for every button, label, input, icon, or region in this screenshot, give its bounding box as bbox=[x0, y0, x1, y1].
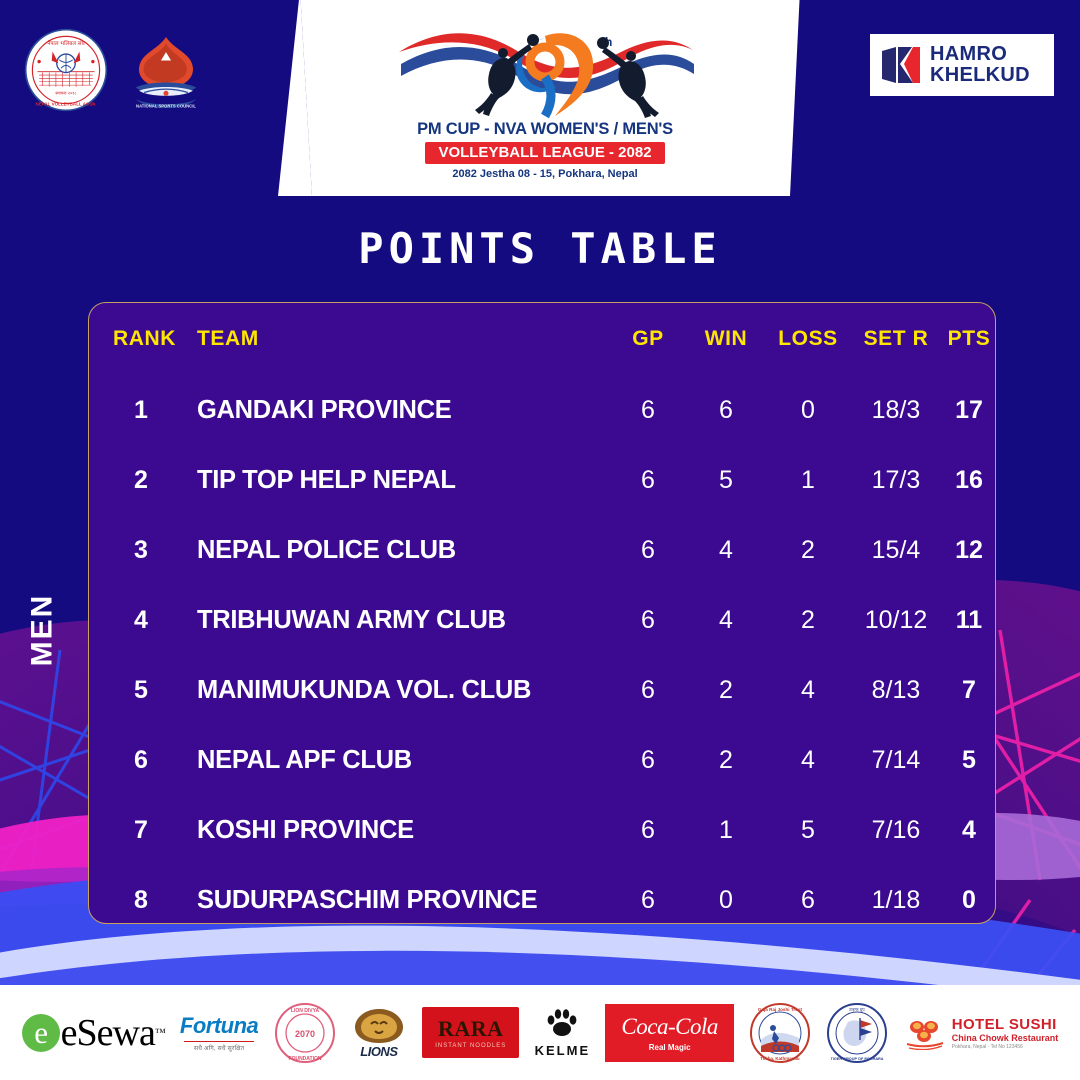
cell-pts: 4 bbox=[941, 795, 996, 865]
svg-text:स्थापना २०१८: स्थापना २०१८ bbox=[55, 90, 76, 95]
tiger-group-seal-icon: टाइगर ग्रुप TIGER GROUP OF POKHARA bbox=[826, 1002, 888, 1064]
cell-gp: 6 bbox=[609, 725, 687, 795]
sponsor-kelme-logo: KELME bbox=[535, 1000, 591, 1066]
cell-team: KOSHI PROVINCE bbox=[193, 795, 609, 865]
svg-text:2070: 2070 bbox=[295, 1029, 315, 1039]
hamro-khelkud-logo: HAMRO KHELKUD bbox=[870, 34, 1054, 96]
cell-rank: 3 bbox=[89, 515, 193, 585]
cell-loss: 2 bbox=[765, 585, 851, 655]
ldjf-seal-icon: 2070 LION DIVYA FOUNDATION bbox=[274, 1002, 336, 1064]
cell-gp: 6 bbox=[609, 585, 687, 655]
cell-win: 4 bbox=[687, 585, 765, 655]
table-row: 5 MANIMUKUNDA VOL. CLUB 6 2 4 8/13 7 bbox=[89, 655, 996, 725]
cell-team: NEPAL POLICE CLUB bbox=[193, 515, 609, 585]
cell-rank: 2 bbox=[89, 445, 193, 515]
cell-set-r: 7/14 bbox=[851, 725, 941, 795]
table-row: 1 GANDAKI PROVINCE 6 6 0 18/3 17 bbox=[89, 375, 996, 445]
cell-rank: 8 bbox=[89, 865, 193, 924]
cell-rank: 4 bbox=[89, 585, 193, 655]
cell-set-r: 10/12 bbox=[851, 585, 941, 655]
cell-set-r: 1/18 bbox=[851, 865, 941, 924]
grjt-seal-icon: Gaja Raj Joshi Trust Tokha, Kathmandu bbox=[749, 1002, 811, 1064]
paw-print-icon bbox=[545, 1008, 579, 1036]
cell-win: 2 bbox=[687, 655, 765, 725]
sponsor-fortuna-text: Fortuna bbox=[180, 1013, 258, 1039]
cell-pts: 0 bbox=[941, 865, 996, 924]
cell-pts: 11 bbox=[941, 585, 996, 655]
column-header-rank: RANK bbox=[89, 303, 193, 375]
table-row: 3 NEPAL POLICE CLUB 6 4 2 15/4 12 bbox=[89, 515, 996, 585]
lion-head-icon bbox=[351, 1007, 407, 1045]
sponsor-hotel-sushi-line1: HOTEL SUSHI bbox=[952, 1016, 1059, 1033]
sponsor-fortuna-tagline: सधै अगि, सधै सुरक्षित bbox=[180, 1044, 258, 1052]
cell-pts: 5 bbox=[941, 725, 996, 795]
points-table: RANK TEAM GP WIN LOSS SET R PTS 1 GANDAK… bbox=[89, 303, 996, 924]
event-logo: th PM CUP - NVA WOMEN'S / MEN'S VOLLEYBA… bbox=[395, 16, 695, 188]
sponsor-lions-logo: LIONS bbox=[351, 1000, 407, 1066]
cell-win: 6 bbox=[687, 375, 765, 445]
cell-win: 4 bbox=[687, 515, 765, 585]
cell-set-r: 15/4 bbox=[851, 515, 941, 585]
cell-loss: 2 bbox=[765, 515, 851, 585]
column-header-loss: LOSS bbox=[765, 303, 851, 375]
sponsor-footer: eeSewa™ Fortuna सधै अगि, सधै सुरक्षित 20… bbox=[0, 985, 1080, 1080]
svg-text:Gaja Raj Joshi Trust: Gaja Raj Joshi Trust bbox=[758, 1007, 803, 1012]
cell-rank: 6 bbox=[89, 725, 193, 795]
points-table-body: 1 GANDAKI PROVINCE 6 6 0 18/3 17 2 TIP T… bbox=[89, 375, 996, 924]
column-header-win: WIN bbox=[687, 303, 765, 375]
cell-gp: 6 bbox=[609, 375, 687, 445]
nepal-volleyball-association-seal: नेपाल भलिबल संघ स्थापना २०१८ NEPAL VOLLE… bbox=[24, 28, 108, 112]
sponsor-esewa-logo: eeSewa™ bbox=[22, 1000, 165, 1066]
sushi-icon bbox=[904, 1016, 946, 1050]
table-row: 6 NEPAL APF CLUB 6 2 4 7/14 5 bbox=[89, 725, 996, 795]
table-row: 2 TIP TOP HELP NEPAL 6 5 1 17/3 16 bbox=[89, 445, 996, 515]
event-logo-art: th bbox=[395, 16, 695, 124]
svg-text:नेपाल भलिबल संघ: नेपाल भलिबल संघ bbox=[47, 40, 85, 47]
cell-loss: 6 bbox=[765, 865, 851, 924]
event-title-line3: 2082 Jestha 08 - 15, Pokhara, Nepal bbox=[395, 168, 695, 180]
column-header-team: TEAM bbox=[193, 303, 609, 375]
table-header-row: RANK TEAM GP WIN LOSS SET R PTS bbox=[89, 303, 996, 375]
cell-loss: 1 bbox=[765, 445, 851, 515]
esewa-trademark-icon: ™ bbox=[155, 1027, 165, 1039]
sponsor-hotel-sushi-logo: HOTEL SUSHI China Chowk Restaurant Pokha… bbox=[904, 1000, 1059, 1066]
cell-loss: 4 bbox=[765, 725, 851, 795]
cell-team: TRIBHUWAN ARMY CLUB bbox=[193, 585, 609, 655]
sponsor-kelme-text: KELME bbox=[535, 1043, 591, 1058]
sponsor-coca-cola-text: Coca-Cola bbox=[621, 1014, 717, 1040]
esewa-e-icon: e bbox=[22, 1014, 60, 1052]
cell-rank: 5 bbox=[89, 655, 193, 725]
svg-text:FOUNDATION: FOUNDATION bbox=[288, 1056, 321, 1062]
cell-team: NEPAL APF CLUB bbox=[193, 725, 609, 795]
cell-team: SUDURPASCHIM PROVINCE bbox=[193, 865, 609, 924]
sponsor-fortuna-logo: Fortuna सधै अगि, सधै सुरक्षित bbox=[180, 1000, 258, 1066]
sponsor-esewa-text: eSewa bbox=[61, 1011, 155, 1055]
event-title-line2: VOLLEYBALL LEAGUE - 2082 bbox=[425, 142, 664, 164]
sponsor-tiger-group-logo: टाइगर ग्रुप TIGER GROUP OF POKHARA bbox=[826, 1000, 888, 1066]
cell-team: MANIMUKUNDA VOL. CLUB bbox=[193, 655, 609, 725]
cell-loss: 4 bbox=[765, 655, 851, 725]
sponsor-rara-logo: RARA INSTANT NOODLES bbox=[422, 1000, 519, 1066]
svg-text:Tokha, Kathmandu: Tokha, Kathmandu bbox=[761, 1056, 801, 1061]
sponsor-lion-divya-jyoti-foundation-logo: 2070 LION DIVYA FOUNDATION bbox=[274, 1000, 336, 1066]
cell-loss: 5 bbox=[765, 795, 851, 865]
cell-gp: 6 bbox=[609, 865, 687, 924]
cell-gp: 6 bbox=[609, 445, 687, 515]
sponsor-rara-tagline: INSTANT NOODLES bbox=[435, 1043, 506, 1049]
cell-win: 2 bbox=[687, 725, 765, 795]
svg-text:TIGER GROUP OF POKHARA: TIGER GROUP OF POKHARA bbox=[831, 1057, 884, 1061]
sponsor-gaja-raj-joshi-trust-logo: Gaja Raj Joshi Trust Tokha, Kathmandu bbox=[749, 1000, 811, 1066]
cell-pts: 16 bbox=[941, 445, 996, 515]
cell-rank: 7 bbox=[89, 795, 193, 865]
column-header-set-r: SET R bbox=[851, 303, 941, 375]
cell-gp: 6 bbox=[609, 655, 687, 725]
national-sports-council-logo: NATIONAL SPORTS COUNCIL bbox=[124, 32, 208, 116]
cell-win: 5 bbox=[687, 445, 765, 515]
cell-set-r: 18/3 bbox=[851, 375, 941, 445]
fortuna-rule-divider bbox=[184, 1041, 254, 1043]
cell-team: TIP TOP HELP NEPAL bbox=[193, 445, 609, 515]
table-row: 8 SUDURPASCHIM PROVINCE 6 0 6 1/18 0 bbox=[89, 865, 996, 924]
sponsor-coca-cola-logo: Coca-Cola Real Magic bbox=[605, 1000, 733, 1066]
hamro-khelkud-mark-icon bbox=[880, 44, 922, 86]
column-header-gp: GP bbox=[609, 303, 687, 375]
table-row: 7 KOSHI PROVINCE 6 1 5 7/16 4 bbox=[89, 795, 996, 865]
sponsor-lions-text: LIONS bbox=[351, 1044, 407, 1059]
svg-text:NATIONAL SPORTS COUNCIL: NATIONAL SPORTS COUNCIL bbox=[136, 104, 196, 109]
cell-gp: 6 bbox=[609, 515, 687, 585]
cell-set-r: 8/13 bbox=[851, 655, 941, 725]
cell-set-r: 17/3 bbox=[851, 445, 941, 515]
points-table-head: RANK TEAM GP WIN LOSS SET R PTS bbox=[89, 303, 996, 375]
sponsor-hotel-sushi-line2: China Chowk Restaurant bbox=[952, 1033, 1059, 1043]
sponsor-coca-cola-tagline: Real Magic bbox=[621, 1043, 717, 1052]
cell-pts: 17 bbox=[941, 375, 996, 445]
cell-gp: 6 bbox=[609, 795, 687, 865]
cell-rank: 1 bbox=[89, 375, 193, 445]
cell-win: 1 bbox=[687, 795, 765, 865]
sponsor-hotel-sushi-line3: Pokhara, Nepal · Tel No 123456 bbox=[952, 1044, 1059, 1050]
table-row: 4 TRIBHUWAN ARMY CLUB 6 4 2 10/12 11 bbox=[89, 585, 996, 655]
category-label: MEN bbox=[12, 560, 72, 700]
brand-line2: KHELKUD bbox=[930, 65, 1030, 86]
brand-line1: HAMRO bbox=[930, 44, 1030, 65]
points-table-panel: RANK TEAM GP WIN LOSS SET R PTS 1 GANDAK… bbox=[88, 302, 996, 924]
svg-text:LION DIVYA: LION DIVYA bbox=[291, 1008, 320, 1014]
column-header-pts: PTS bbox=[941, 303, 996, 375]
sponsor-rara-text: RARA bbox=[435, 1016, 506, 1042]
cell-pts: 12 bbox=[941, 515, 996, 585]
cell-team: GANDAKI PROVINCE bbox=[193, 375, 609, 445]
page-title: POINTS TABLE bbox=[0, 224, 1080, 273]
category-label-text: MEN bbox=[25, 594, 59, 667]
svg-text:NEPAL VOLLEYBALL ASSN.: NEPAL VOLLEYBALL ASSN. bbox=[35, 101, 96, 106]
cell-pts: 7 bbox=[941, 655, 996, 725]
cell-loss: 0 bbox=[765, 375, 851, 445]
cell-set-r: 7/16 bbox=[851, 795, 941, 865]
cell-win: 0 bbox=[687, 865, 765, 924]
